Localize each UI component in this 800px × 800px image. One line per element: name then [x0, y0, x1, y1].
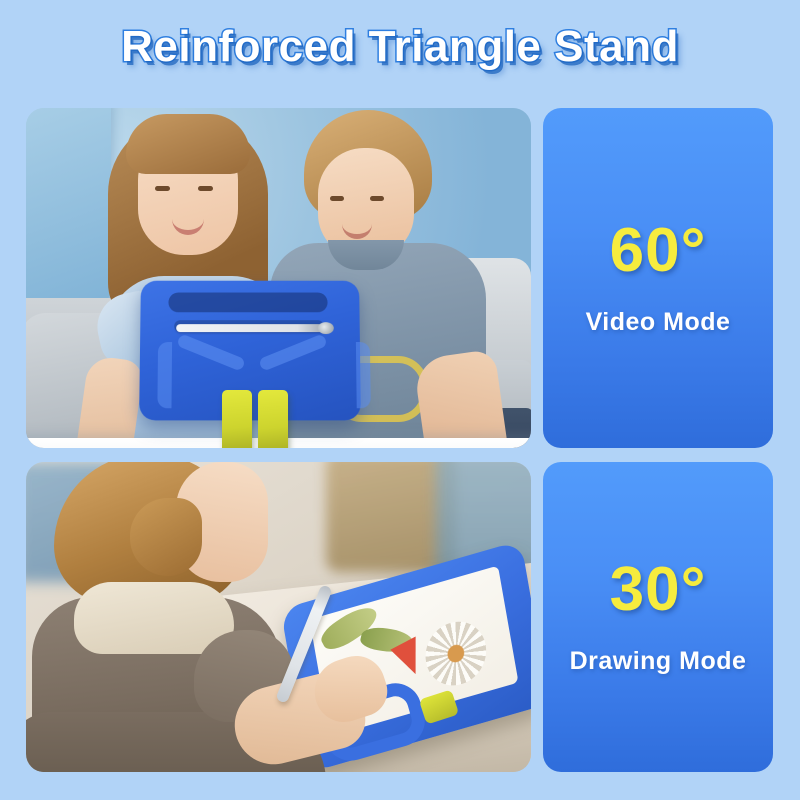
photo-drawing-mode	[26, 462, 531, 772]
photo-video-mode	[26, 108, 531, 448]
info-panel-drawing-mode: 30° Drawing Mode	[543, 462, 773, 772]
boy-arm	[413, 349, 509, 448]
angle-value: 30°	[610, 559, 707, 621]
artwork-flower	[421, 614, 491, 692]
toddler-hair-curl	[130, 498, 202, 576]
mode-label: Video Mode	[586, 308, 731, 337]
girl-eye-left	[155, 186, 170, 191]
angle-value: 60°	[610, 220, 707, 282]
case-handle	[168, 293, 327, 313]
kickstand-leg-right	[258, 390, 288, 448]
page-title: Reinforced Triangle Stand	[0, 22, 800, 72]
boy-eye-right	[370, 196, 384, 201]
card-drawing-mode: 30° Drawing Mode	[26, 462, 773, 772]
girl-fringe	[126, 114, 250, 174]
girl-eye-right	[198, 186, 213, 191]
stylus-tip	[318, 322, 334, 334]
boy-eye-left	[330, 196, 344, 201]
kickstand-leg-left	[222, 390, 252, 448]
mode-label: Drawing Mode	[570, 647, 747, 676]
stylus	[176, 324, 328, 332]
wall-panel	[26, 108, 111, 313]
info-panel-video-mode: 60° Video Mode	[543, 108, 773, 448]
card-video-mode: 60° Video Mode	[26, 108, 773, 448]
